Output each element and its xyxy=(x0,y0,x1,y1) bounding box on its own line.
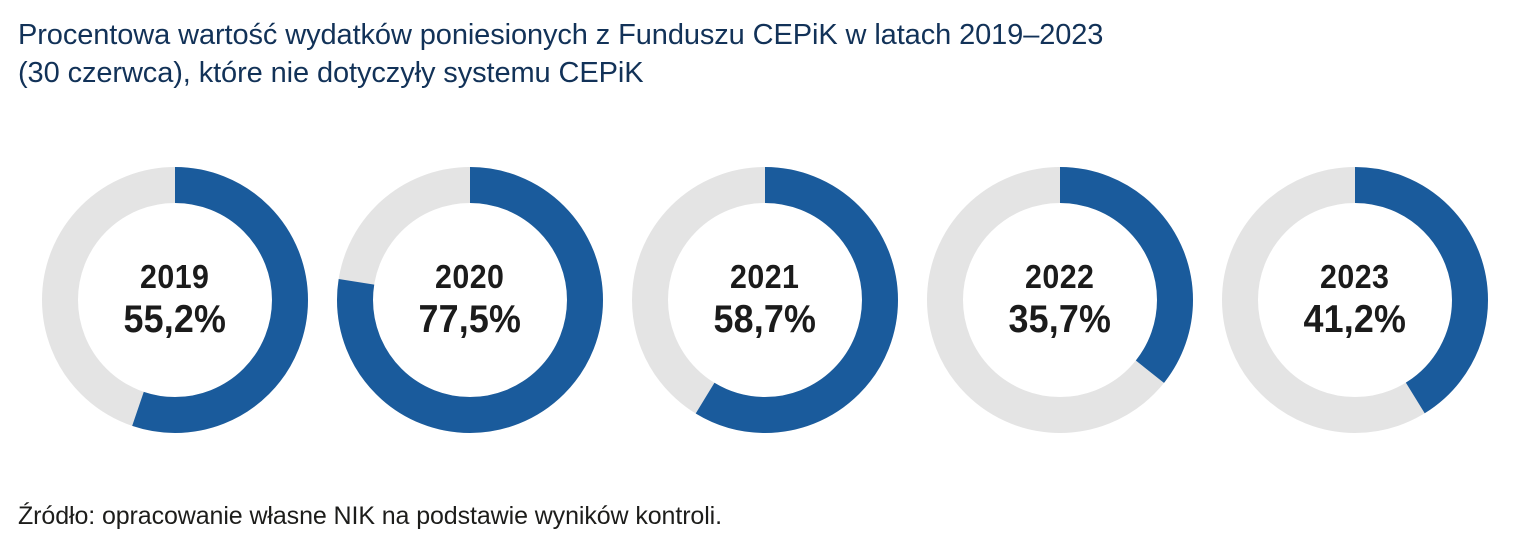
chart-title: Procentowa wartość wydatków poniesionych… xyxy=(18,16,1438,92)
donut-chart-row: 201955,2%202077,5%202158,7%202235,7%2023… xyxy=(0,160,1520,460)
donut-chart-2020: 202077,5% xyxy=(336,166,604,434)
donut-chart-2021: 202158,7% xyxy=(631,166,899,434)
donut-ring-2022 xyxy=(926,166,1194,434)
donut-chart-2019: 201955,2% xyxy=(41,166,309,434)
donut-ring-2023 xyxy=(1221,166,1489,434)
donut-ring-2021 xyxy=(631,166,899,434)
donut-chart-2022: 202235,7% xyxy=(926,166,1194,434)
source-note: Źródło: opracowanie własne NIK na podsta… xyxy=(18,500,722,532)
donut-ring-2019 xyxy=(41,166,309,434)
donut-chart-2023: 202341,2% xyxy=(1221,166,1489,434)
donut-ring-2020 xyxy=(336,166,604,434)
